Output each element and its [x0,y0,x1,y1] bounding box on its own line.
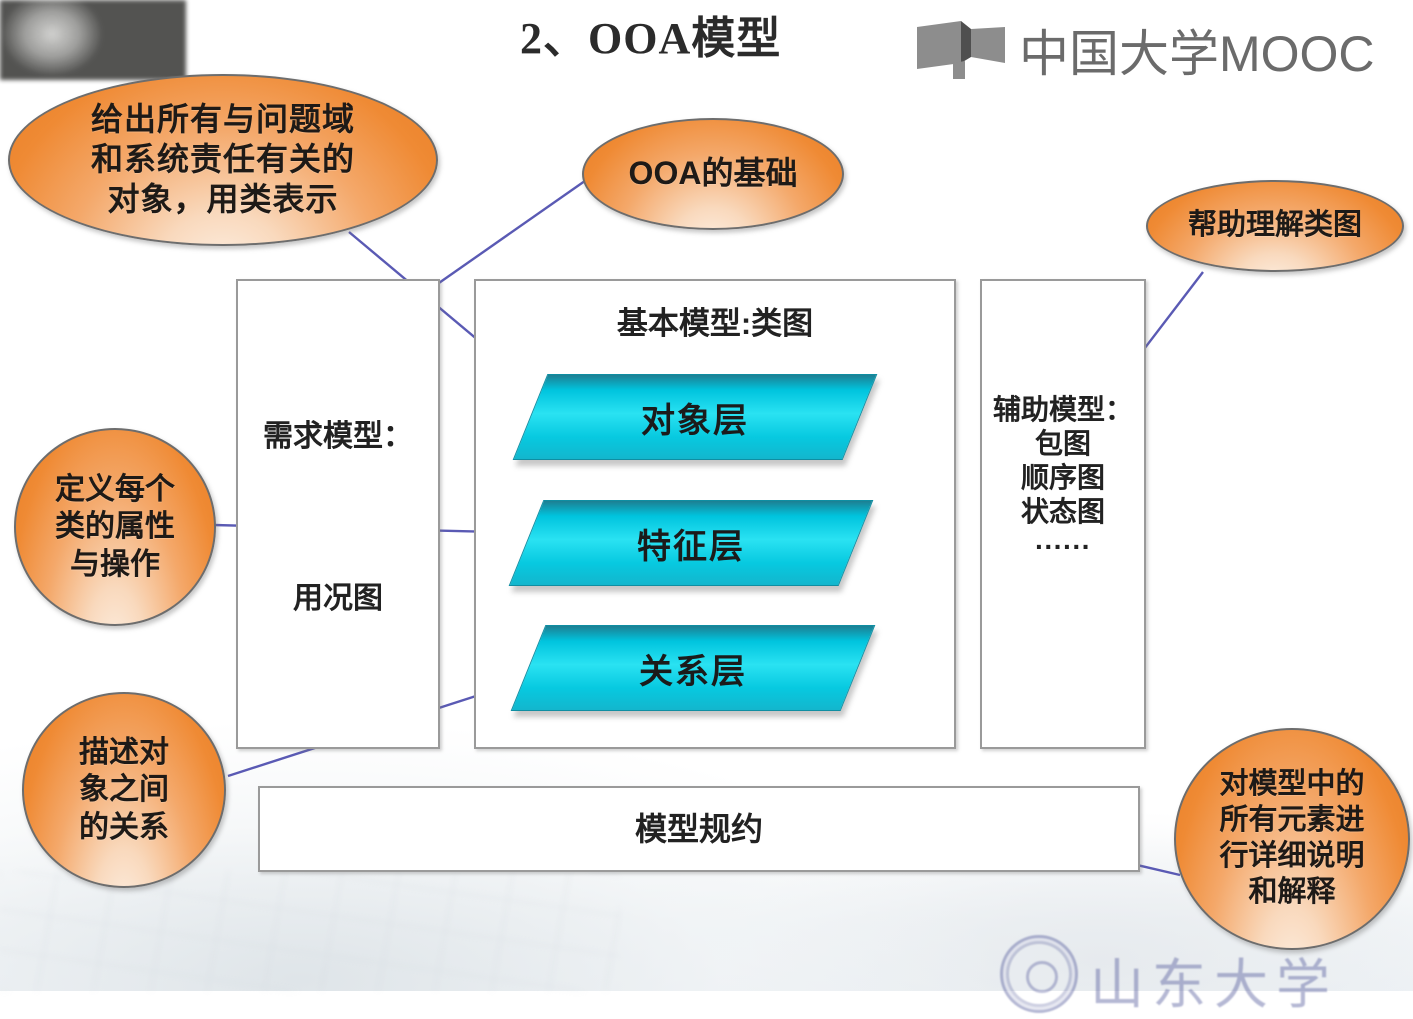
callout-problem-domain-text: 给出所有与问题域 和系统责任有关的 对象，用类表示 [91,100,355,219]
background-keyboard-blur [0,871,620,991]
requirement-model-title: 需求模型： [238,419,438,456]
layer-relation[interactable]: 关系层 [511,625,876,711]
slide-canvas: 山东大学 2、OOA模型 中国大学MOOC 需求模型： [0,0,1413,991]
callout-attributes-operations[interactable]: 定义每个 类的属性 与操作 [14,428,216,626]
layer-object[interactable]: 对象层 [513,374,878,460]
layer-object-label: 对象层 [531,375,859,459]
basic-model-title: 基本模型:类图 [476,305,954,343]
callout-detail-explanation-text: 对模型中的 所有元素进 行详细说明 和解释 [1219,767,1364,911]
auxiliary-model-box[interactable]: 辅助模型： 包图 顺序图 状态图 ······ [980,279,1146,749]
callout-problem-domain[interactable]: 给出所有与问题域 和系统责任有关的 对象，用类表示 [8,74,438,246]
model-specification-title: 模型规约 [260,810,1138,849]
callout-help-class-diagram[interactable]: 帮助理解类图 [1146,180,1404,272]
callout-object-relations[interactable]: 描述对 象之间 的关系 [22,692,226,888]
requirement-model-box[interactable]: 需求模型： 用况图 [236,279,440,749]
brand-name: 中国大学MOOC [1019,14,1375,86]
model-specification-box[interactable]: 模型规约 [258,786,1140,872]
university-seal-text: 山东大学 [1090,940,1338,1019]
page-title: 2、OOA模型 [520,2,781,66]
callout-help-class-diagram-text: 帮助理解类图 [1188,208,1362,244]
requirement-model-subtitle: 用况图 [238,581,438,618]
callout-attributes-operations-text: 定义每个 类的属性 与操作 [55,471,175,583]
auxiliary-model-lines: 辅助模型： 包图 顺序图 状态图 ······ [982,393,1144,564]
book-logo-icon [915,19,1007,81]
connector-help-class-diagram [1138,272,1203,357]
callout-object-relations-text: 描述对 象之间 的关系 [79,734,169,846]
layer-feature-label: 特征层 [527,501,855,585]
video-thumbnail-overlay [0,0,186,80]
layer-relation-label: 关系层 [529,626,857,710]
callout-ooa-basis-text: OOA的基础 [629,154,798,194]
callout-ooa-basis[interactable]: OOA的基础 [582,118,844,230]
layer-feature[interactable]: 特征层 [509,500,874,586]
callout-detail-explanation[interactable]: 对模型中的 所有元素进 行详细说明 和解释 [1174,728,1410,950]
university-seal-icon [1000,935,1078,1013]
brand-logo: 中国大学MOOC [915,14,1375,86]
